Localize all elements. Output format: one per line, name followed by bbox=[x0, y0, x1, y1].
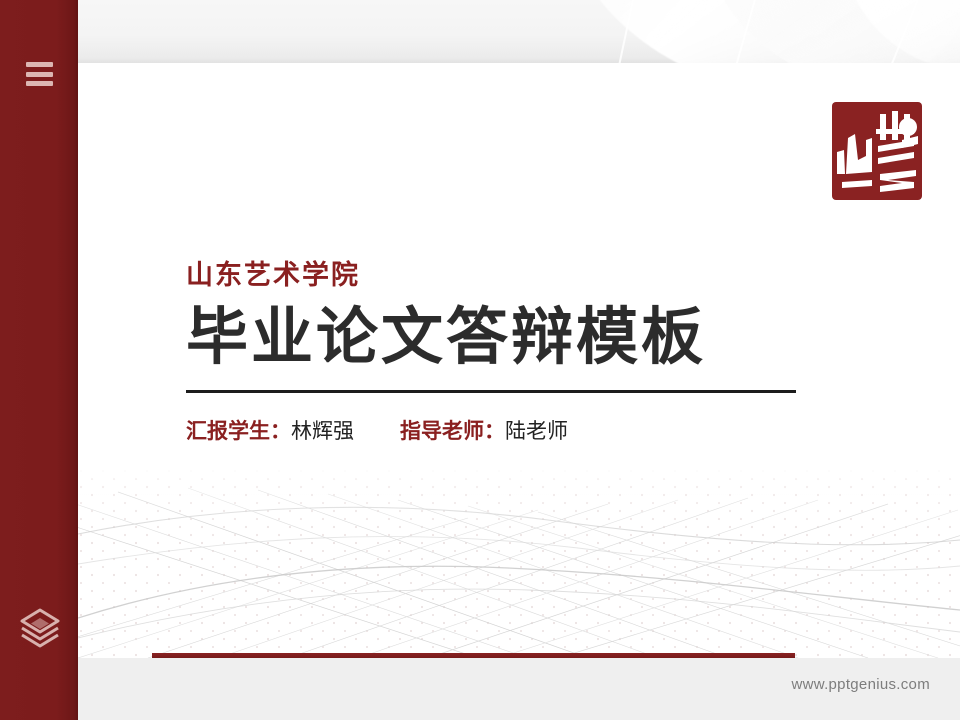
accent-bottom-bar bbox=[152, 653, 795, 658]
presenter-name: 林辉强 bbox=[291, 420, 354, 443]
slide-viewer: 山东艺术学院 毕业论文答辩模板 汇报学生：林辉强指导老师：陆老师 www.ppt… bbox=[0, 0, 960, 720]
title-divider bbox=[186, 390, 796, 393]
wireframe-mesh-decoration bbox=[78, 468, 960, 658]
advisor-label: 指导老师： bbox=[400, 420, 505, 443]
advisor-name: 陆老师 bbox=[505, 420, 568, 443]
page-title: 毕业论文答辩模板 bbox=[186, 305, 906, 372]
slide-canvas: 山东艺术学院 毕业论文答辩模板 汇报学生：林辉强指导老师：陆老师 bbox=[78, 63, 960, 658]
school-name: 山东艺术学院 bbox=[186, 259, 906, 293]
presenter-label: 汇报学生： bbox=[186, 420, 291, 443]
hamburger-line-3 bbox=[26, 81, 53, 86]
layers-stack-logo-icon[interactable] bbox=[16, 604, 64, 652]
footer-url: www.pptgenius.com bbox=[792, 676, 931, 693]
people-line: 汇报学生：林辉强指导老师：陆老师 bbox=[186, 418, 906, 445]
chinese-seal-stamp-icon bbox=[828, 96, 926, 206]
top-decoration-band bbox=[0, 0, 960, 63]
headline-block: 山东艺术学院 毕业论文答辩模板 汇报学生：林辉强指导老师：陆老师 bbox=[186, 259, 906, 445]
hamburger-line-1 bbox=[26, 62, 53, 67]
hamburger-menu-icon[interactable] bbox=[26, 62, 53, 86]
left-sidebar-rail bbox=[0, 0, 78, 720]
hamburger-line-2 bbox=[26, 72, 53, 77]
